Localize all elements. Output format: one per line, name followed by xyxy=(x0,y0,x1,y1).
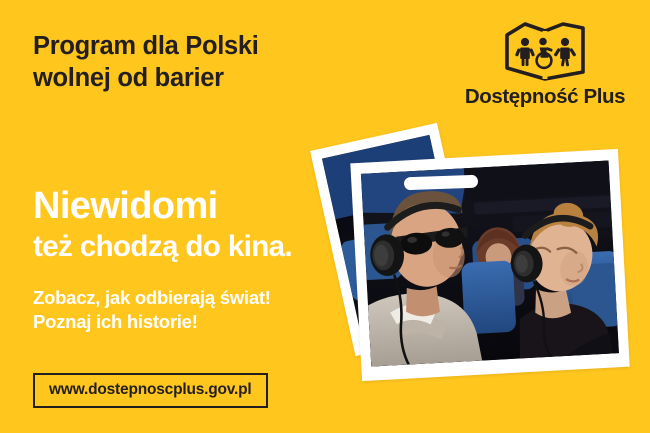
poster-canvas: Program dla Polski wolnej od barier Niew… xyxy=(0,0,650,433)
dostepnosc-plus-logo: Dostępność Plus xyxy=(455,22,635,112)
photo-frame-tab xyxy=(404,175,478,191)
headline-line-1: Program dla Polski xyxy=(33,30,363,62)
big-message-line-2: też chodzą do kina. xyxy=(33,231,363,262)
photo-main-image xyxy=(361,160,619,366)
subtext-line-1: Zobacz, jak odbierają świat! xyxy=(33,286,363,310)
big-message: Niewidomi też chodzą do kina. xyxy=(33,186,363,263)
subtext-line-2: Poznaj ich historie! xyxy=(33,310,363,334)
logo-wordmark: Dostępność Plus xyxy=(455,85,635,109)
headline-line-2: wolnej od barier xyxy=(33,62,363,94)
photo-frame-main xyxy=(350,149,629,381)
subtext: Zobacz, jak odbierają świat! Poznaj ich … xyxy=(33,286,363,335)
accessibility-open-book-icon xyxy=(499,22,591,82)
website-url-box[interactable]: www.dostepnoscplus.gov.pl xyxy=(33,373,268,408)
big-message-line-1: Niewidomi xyxy=(33,186,363,226)
page-title: Program dla Polski wolnej od barier xyxy=(33,30,363,95)
cinema-photo xyxy=(348,128,626,380)
